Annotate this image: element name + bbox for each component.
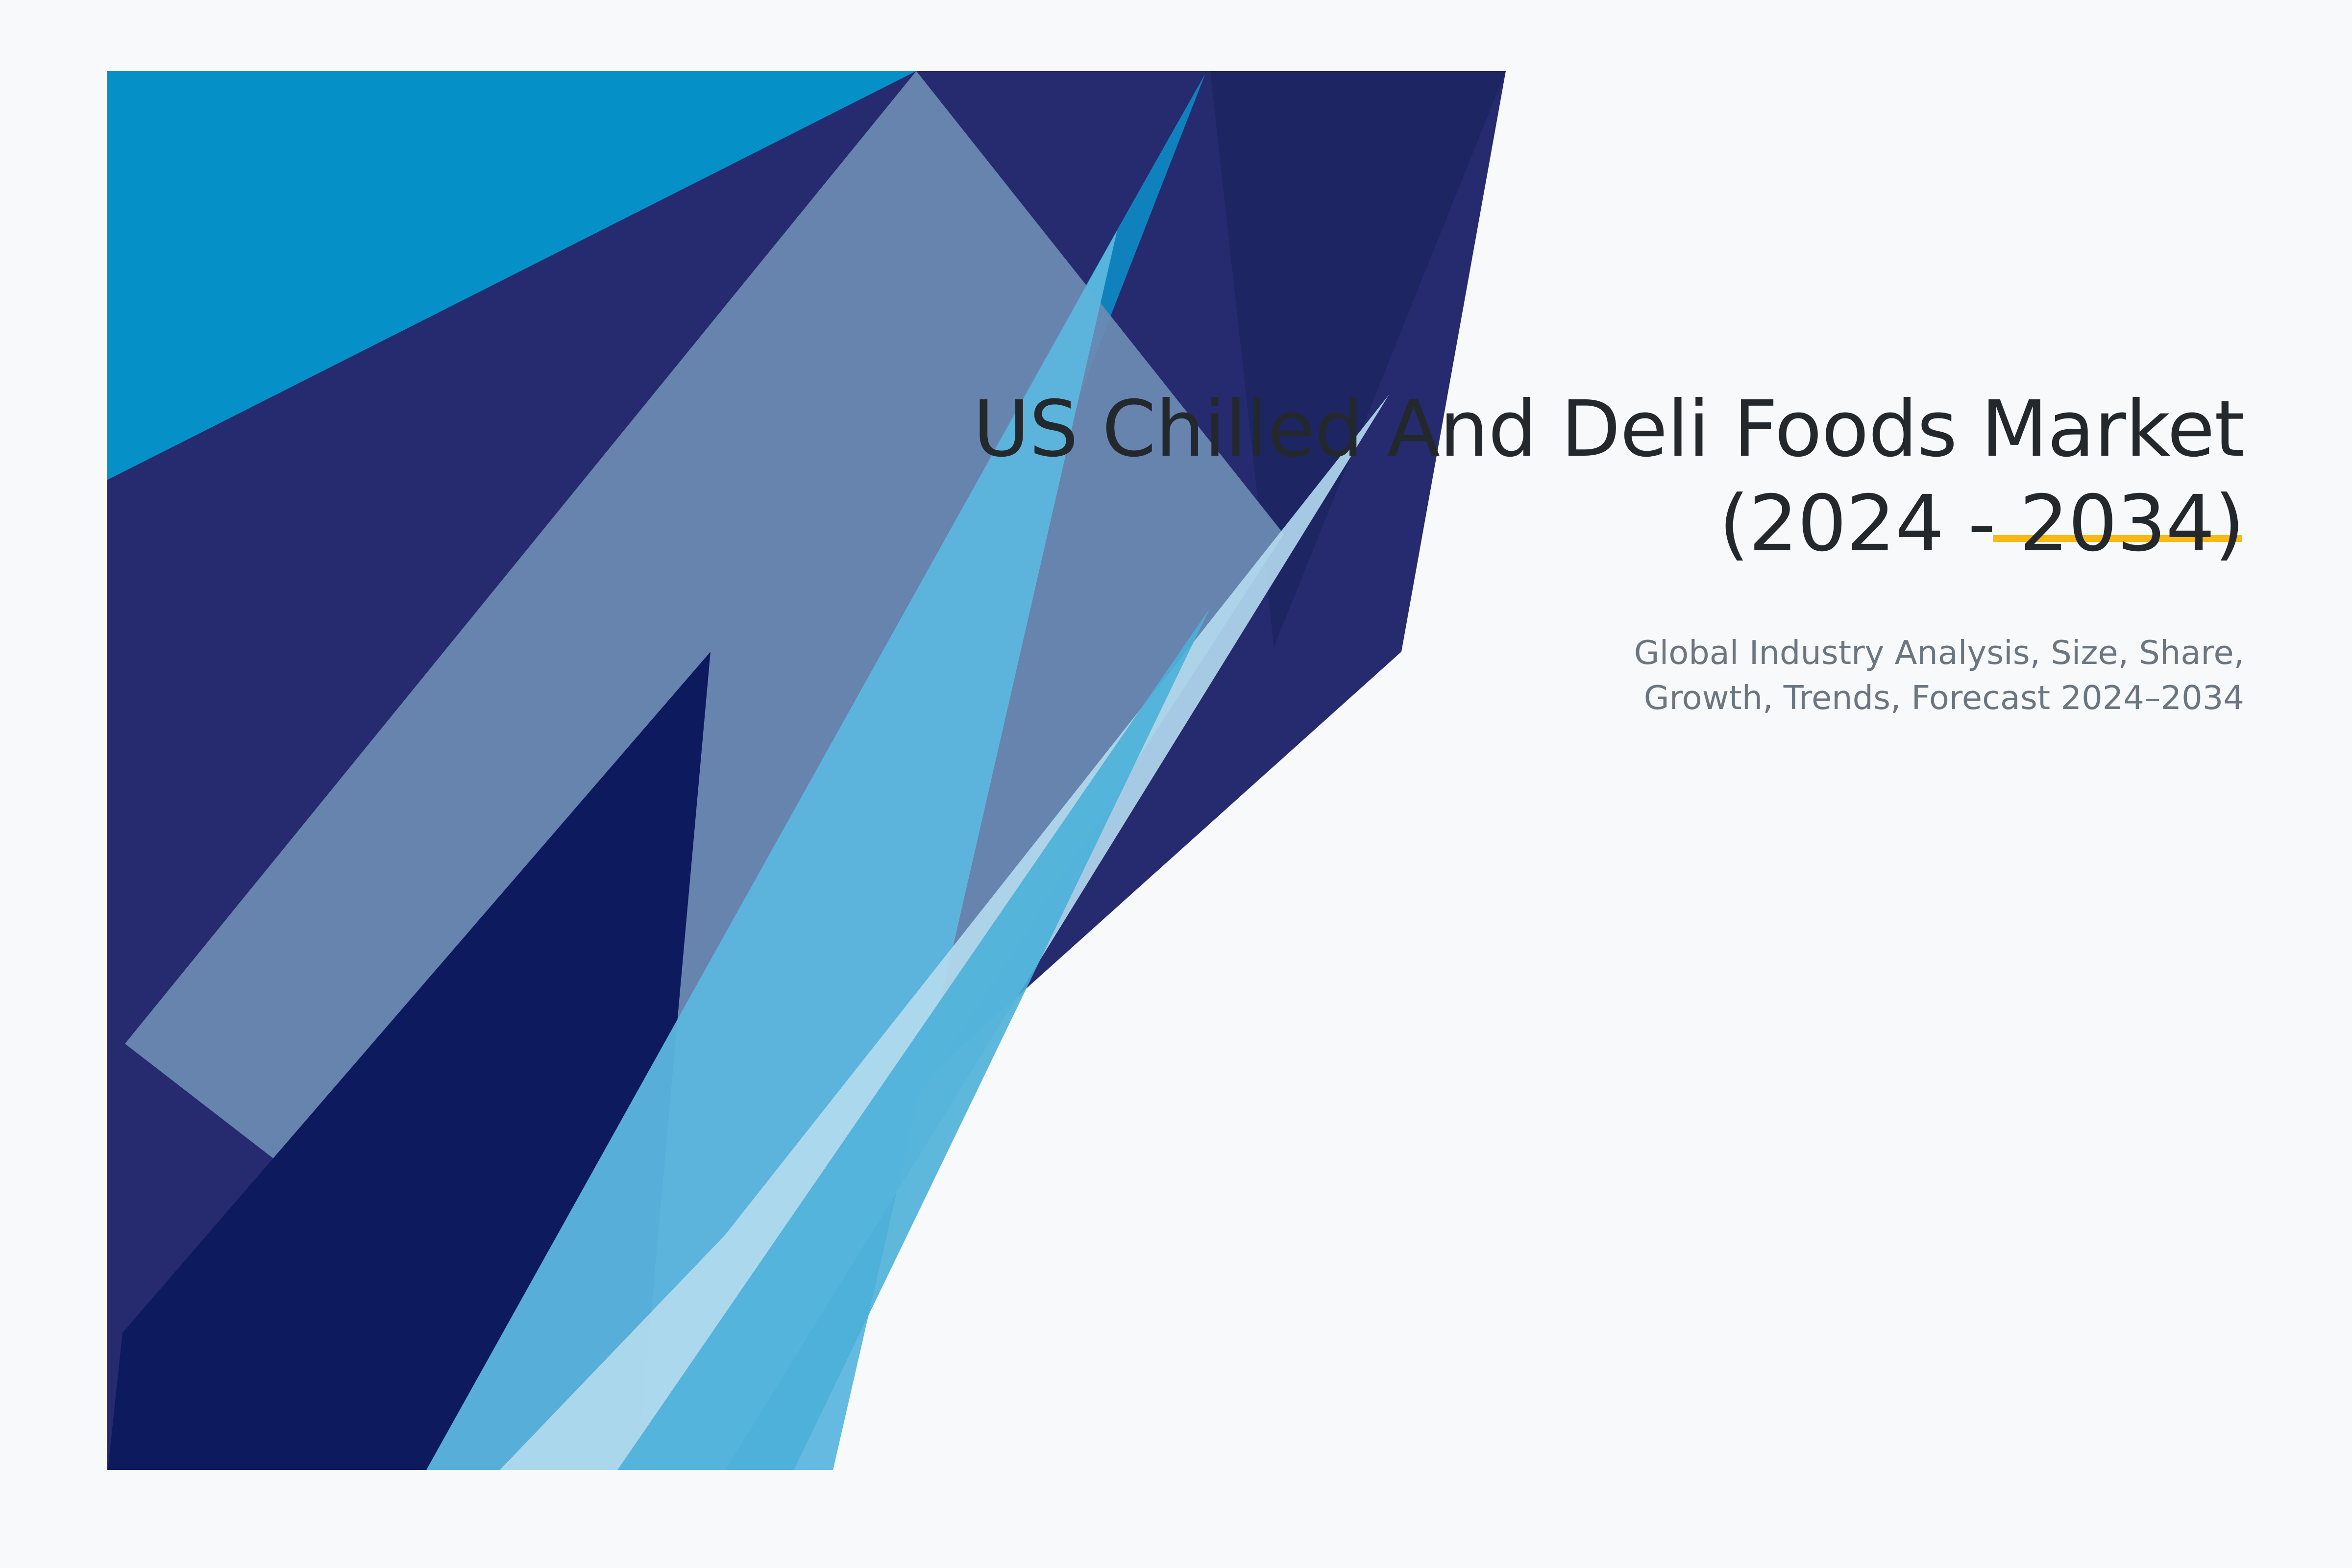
page-subtitle: Global Industry Analysis, Size, Share, G… xyxy=(970,571,2244,721)
page-subtitle-line-1: Global Industry Analysis, Size, Share, xyxy=(1634,634,2244,672)
abstract-geometric-cover-graphic xyxy=(0,0,2352,1568)
report-cover: US Chilled And Deli Foods Market (2024 -… xyxy=(0,0,2352,1568)
cover-text-block: US Chilled And Deli Foods Market (2024 -… xyxy=(970,382,2244,720)
page-title-line-2: (2024 - 2034) xyxy=(1719,479,2244,569)
page-title-line-1: US Chilled And Deli Foods Market xyxy=(973,384,2244,474)
page-subtitle-line-2: Growth, Trends, Forecast 2024–2034 xyxy=(1644,679,2244,717)
page-title: US Chilled And Deli Foods Market (2024 -… xyxy=(970,382,2244,571)
